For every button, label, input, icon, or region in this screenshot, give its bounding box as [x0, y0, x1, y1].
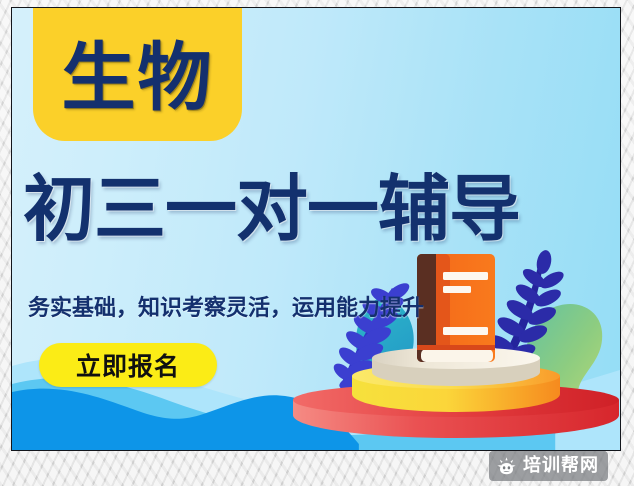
book-title-bar-3 [443, 327, 488, 335]
promo-banner: 生物 初三一对一辅导 务实基础，知识考察灵活，运用能力提升 立即报名 [11, 7, 621, 451]
enroll-now-button[interactable]: 立即报名 [39, 343, 217, 387]
book [417, 254, 495, 362]
illustration-svg [290, 248, 621, 451]
subtitle-text: 务实基础，知识考察灵活，运用能力提升 [28, 290, 424, 322]
subject-badge: 生物 [33, 8, 242, 141]
book-title-bar-1 [443, 272, 488, 280]
watermark-label: 培训帮网 [523, 457, 599, 475]
enroll-now-button-label: 立即报名 [76, 347, 180, 383]
watermark: 培训帮网 [489, 451, 608, 481]
illustration-group [290, 248, 621, 451]
sun-face-icon [496, 456, 517, 476]
book-title-bar-2 [443, 286, 471, 293]
subject-badge-label: 生物 [62, 41, 214, 115]
page-title: 初三一对一辅导 [23, 173, 615, 245]
screenshot-root: 生物 初三一对一辅导 务实基础，知识考察灵活，运用能力提升 立即报名 [0, 0, 634, 486]
